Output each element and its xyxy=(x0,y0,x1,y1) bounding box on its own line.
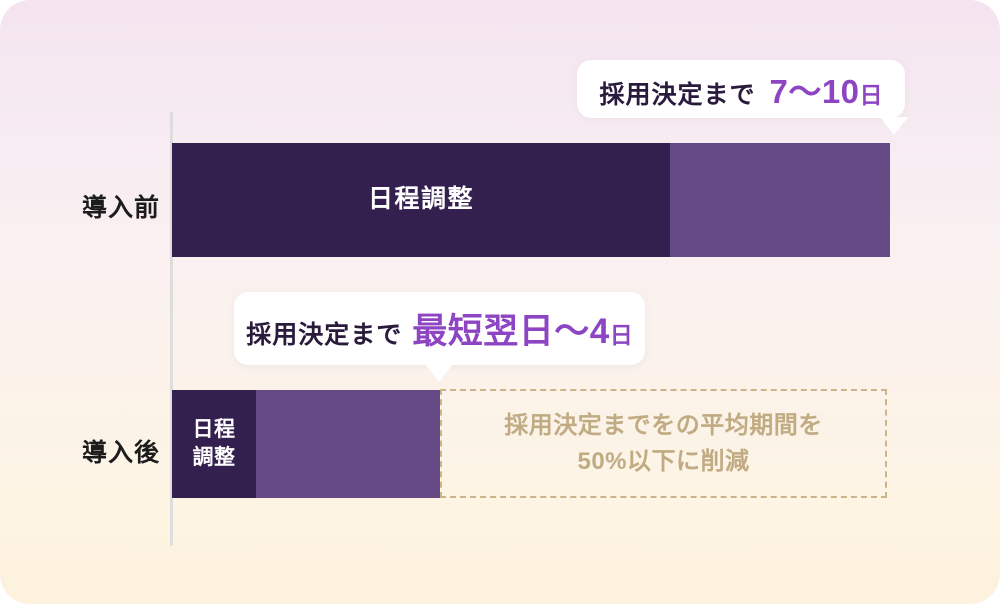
bar-segment-other-before xyxy=(670,143,890,257)
tooltip-after-content: 採用決定まで最短翌日〜4日 xyxy=(246,303,632,354)
category-label-before: 導入前 xyxy=(0,188,160,224)
tooltip-before: 採用決定まで7〜10日 xyxy=(577,60,905,118)
reduction-callout-text: 採用決定までをの平均期間を 50%以下に削減 xyxy=(504,408,823,480)
tooltip-before-unit: 日 xyxy=(860,82,883,108)
tooltip-after: 採用決定まで最短翌日〜4日 xyxy=(234,292,645,365)
bar-segment-scheduling-before: 日程調整 xyxy=(172,143,670,257)
bar-segment-scheduling-after: 日程 調整 xyxy=(172,390,256,498)
chart-card: 導入前 導入後 日程調整 日程 調整 採用決定までをの平均期間を 50%以下に削… xyxy=(0,0,1000,604)
bar-segment-label: 日程調整 xyxy=(368,183,474,217)
tooltip-before-content: 採用決定まで7〜10日 xyxy=(599,65,882,113)
tooltip-tail-icon xyxy=(880,117,908,135)
tooltip-before-value: 7〜10 xyxy=(769,73,859,110)
tooltip-after-value: 最短翌日〜4 xyxy=(412,312,609,351)
category-label-after: 導入後 xyxy=(0,433,160,469)
bar-segment-label: 日程 調整 xyxy=(193,416,236,473)
tooltip-before-lead: 採用決定まで xyxy=(599,81,755,109)
tooltip-after-unit: 日 xyxy=(610,322,633,348)
bar-segment-other-after xyxy=(256,390,440,498)
tooltip-after-lead: 採用決定まで xyxy=(246,321,402,349)
reduction-callout-box: 採用決定までをの平均期間を 50%以下に削減 xyxy=(440,389,887,498)
tooltip-tail-icon xyxy=(425,364,453,382)
bar-row-after: 日程 調整 xyxy=(172,390,440,498)
bar-row-before: 日程調整 xyxy=(172,143,890,257)
